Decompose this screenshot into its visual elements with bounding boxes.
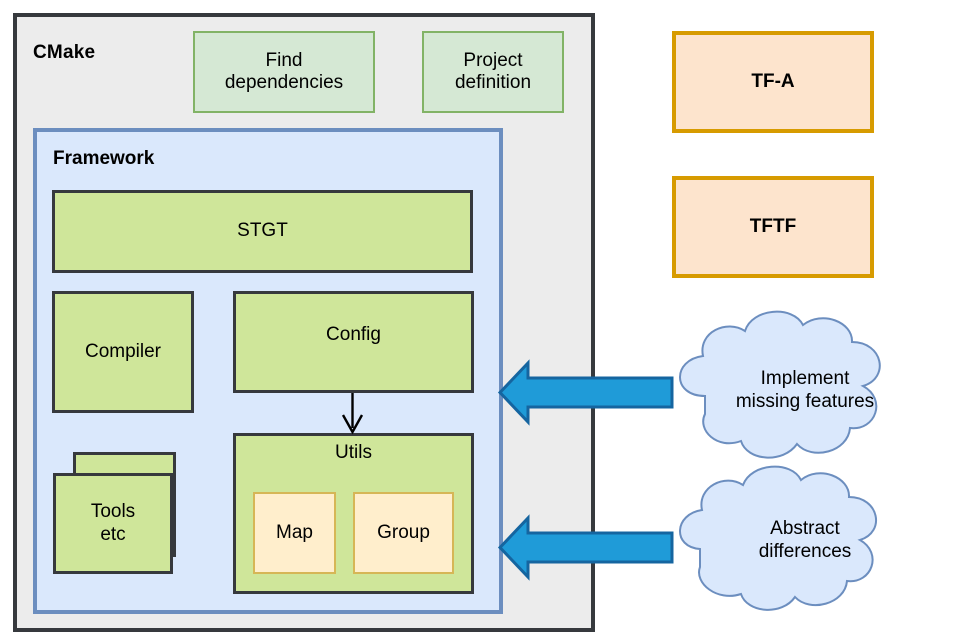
tftf-box[interactable]: TFTF: [672, 176, 874, 278]
project-definition-box[interactable]: Projectdefinition: [422, 31, 564, 113]
utils-label: Utils: [233, 442, 474, 464]
project-definition-label: Projectdefinition: [455, 50, 531, 95]
tf-a-label: TF-A: [751, 71, 794, 93]
config-box[interactable]: Config: [233, 291, 474, 393]
stgt-box[interactable]: STGT: [52, 190, 473, 273]
cmake-label: CMake: [33, 42, 95, 64]
framework-label: Framework: [53, 148, 154, 170]
implement-missing-features-label: Implementmissing features: [690, 368, 920, 414]
config-label: Config: [326, 324, 381, 346]
compiler-box[interactable]: Compiler: [52, 291, 194, 413]
tftf-label: TFTF: [750, 216, 796, 238]
stgt-label: STGT: [237, 220, 288, 242]
tools-label: Toolsetc: [91, 501, 135, 546]
tools-box[interactable]: Toolsetc: [53, 473, 173, 574]
map-label: Map: [276, 522, 313, 544]
group-label: Group: [377, 522, 430, 544]
find-dependencies-box[interactable]: Finddependencies: [193, 31, 375, 113]
tf-a-box[interactable]: TF-A: [672, 31, 874, 133]
map-box[interactable]: Map: [253, 492, 336, 574]
group-box[interactable]: Group: [353, 492, 454, 574]
find-dependencies-label: Finddependencies: [225, 50, 343, 95]
compiler-label: Compiler: [85, 341, 161, 363]
abstract-differences-label: Abstractdifferences: [700, 518, 910, 564]
diagram-canvas: CMake Finddependencies Projectdefinition…: [0, 0, 964, 644]
